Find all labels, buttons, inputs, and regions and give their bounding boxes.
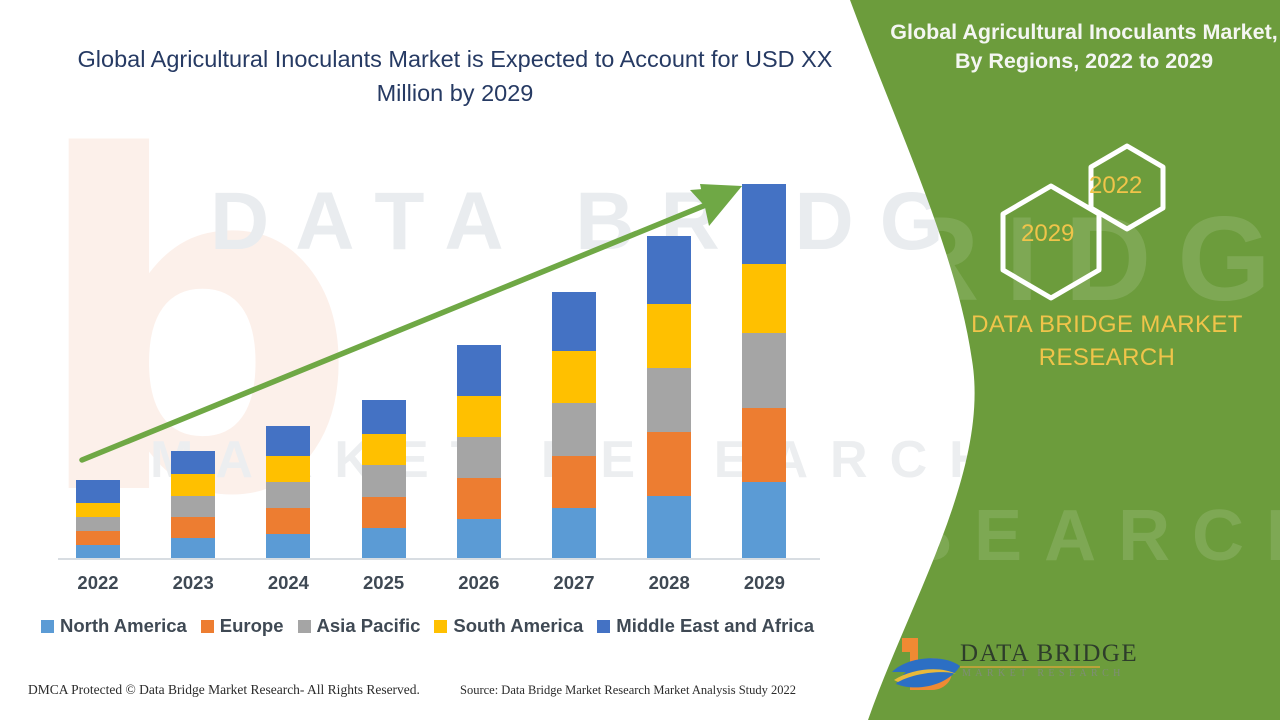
x-label-2028: 2028: [629, 572, 709, 594]
bar-segment[interactable]: [76, 480, 120, 503]
legend-label: Europe: [220, 615, 284, 637]
svg-text:RESEARCH: RESEARCH: [840, 496, 1280, 576]
legend-label: Asia Pacific: [317, 615, 421, 637]
bar-2029[interactable]: [742, 184, 786, 558]
bar-2023[interactable]: [171, 451, 215, 558]
bar-2022[interactable]: [76, 480, 120, 558]
bar-segment[interactable]: [552, 508, 596, 558]
legend-swatch: [298, 620, 311, 633]
legend-swatch: [41, 620, 54, 633]
legend-item[interactable]: South America: [434, 615, 583, 637]
bar-2026[interactable]: [457, 345, 501, 558]
logo-tagline: MARKET RESEARCH: [962, 668, 1125, 679]
chart-legend: North AmericaEuropeAsia PacificSouth Ame…: [0, 615, 855, 637]
bar-segment[interactable]: [362, 465, 406, 497]
bar-segment[interactable]: [76, 531, 120, 545]
bar-segment[interactable]: [647, 304, 691, 368]
right-panel-title: Global Agricultural Inoculants Market, B…: [888, 18, 1280, 76]
x-label-2025: 2025: [344, 572, 424, 594]
bar-segment[interactable]: [457, 519, 501, 558]
legend-label: North America: [60, 615, 187, 637]
legend-item[interactable]: North America: [41, 615, 187, 637]
x-label-2022: 2022: [58, 572, 138, 594]
bar-segment[interactable]: [76, 503, 120, 517]
x-label-2024: 2024: [248, 572, 328, 594]
bar-segment[interactable]: [552, 292, 596, 351]
bar-segment[interactable]: [171, 517, 215, 538]
slide-root: b DATA BRIDGE MARKET RESEARCH Global Agr…: [0, 0, 1280, 720]
bar-segment[interactable]: [76, 517, 120, 531]
bar-segment[interactable]: [742, 408, 786, 482]
bar-segment[interactable]: [171, 496, 215, 517]
legend-item[interactable]: Europe: [201, 615, 284, 637]
bar-segment[interactable]: [552, 351, 596, 403]
x-label-2029: 2029: [724, 572, 804, 594]
bar-segment[interactable]: [171, 451, 215, 474]
bar-segment[interactable]: [266, 508, 310, 534]
x-axis-labels: 20222023202420252026202720282029: [0, 572, 860, 602]
bar-segment[interactable]: [362, 497, 406, 528]
source-note: Source: Data Bridge Market Research Mark…: [460, 683, 796, 698]
legend-swatch: [201, 620, 214, 633]
legend-label: Middle East and Africa: [616, 615, 814, 637]
bar-segment[interactable]: [76, 545, 120, 558]
growth-arrow: [0, 0, 860, 600]
x-label-2023: 2023: [153, 572, 233, 594]
x-label-2027: 2027: [534, 572, 614, 594]
bar-segment[interactable]: [552, 403, 596, 456]
bar-segment[interactable]: [647, 236, 691, 304]
bar-segment[interactable]: [171, 474, 215, 496]
bar-segment[interactable]: [457, 345, 501, 395]
bar-segment[interactable]: [742, 333, 786, 408]
x-label-2026: 2026: [439, 572, 519, 594]
bar-2025[interactable]: [362, 400, 406, 558]
logo-wordmark: DATA BRIDGE: [960, 640, 1138, 668]
x-axis-line: [58, 558, 820, 560]
legend-swatch: [434, 620, 447, 633]
legend-item[interactable]: Asia Pacific: [298, 615, 421, 637]
bar-segment[interactable]: [647, 432, 691, 496]
legend-label: South America: [453, 615, 583, 637]
bar-segment[interactable]: [266, 456, 310, 482]
bar-segment[interactable]: [742, 184, 786, 264]
svg-text:BRIDGE: BRIDGE: [840, 192, 1280, 326]
bar-segment[interactable]: [266, 534, 310, 558]
bar-segment[interactable]: [742, 264, 786, 333]
dmca-notice: DMCA Protected © Data Bridge Market Rese…: [28, 682, 420, 698]
legend-item[interactable]: Middle East and Africa: [597, 615, 814, 637]
bar-segment[interactable]: [457, 396, 501, 437]
bar-segment[interactable]: [362, 434, 406, 465]
bar-segment[interactable]: [742, 482, 786, 558]
bar-segment[interactable]: [171, 538, 215, 558]
bar-segment[interactable]: [266, 482, 310, 508]
chart-plot-area: 20222023202420252026202720282029 North A…: [0, 0, 860, 600]
bar-segment[interactable]: [457, 437, 501, 478]
brand-name: DATA BRIDGE MARKET RESEARCH: [942, 308, 1272, 374]
bar-2027[interactable]: [552, 292, 596, 558]
bar-segment[interactable]: [362, 400, 406, 434]
bar-segment[interactable]: [552, 456, 596, 508]
bar-segment[interactable]: [362, 528, 406, 558]
bar-segment[interactable]: [647, 368, 691, 432]
bar-segment[interactable]: [266, 426, 310, 456]
bar-segment[interactable]: [647, 496, 691, 558]
bar-segment[interactable]: [457, 478, 501, 519]
bar-2024[interactable]: [266, 426, 310, 558]
bar-2028[interactable]: [647, 236, 691, 558]
legend-swatch: [597, 620, 610, 633]
